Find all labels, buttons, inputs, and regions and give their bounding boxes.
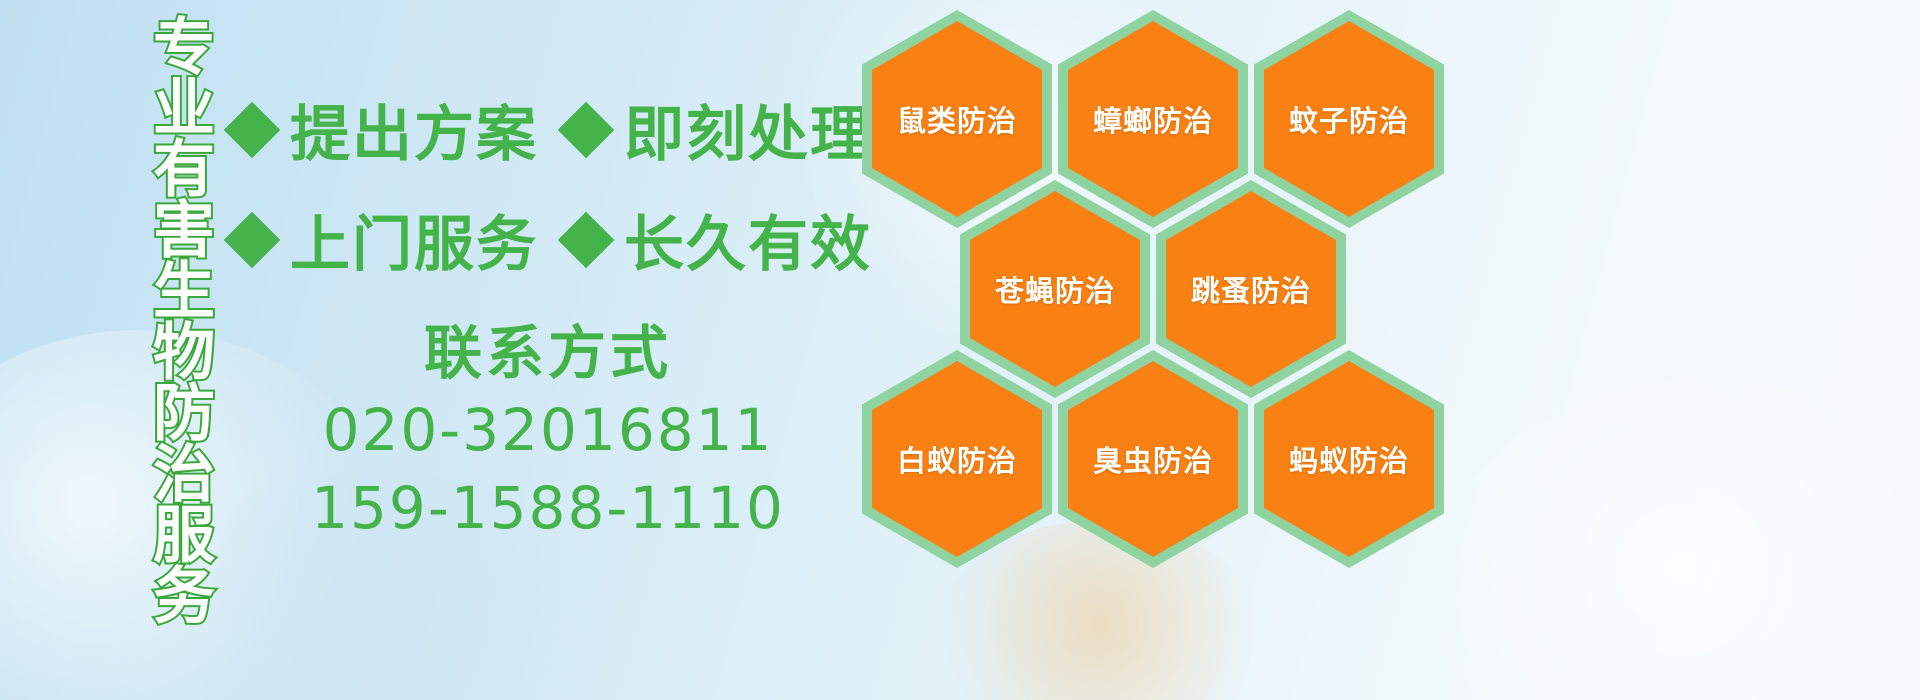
hex-label-termite: 白蚁防治	[897, 438, 1017, 480]
hex-label-fly: 苍蝇防治	[995, 268, 1115, 310]
diamond-icon	[558, 101, 615, 158]
hex-inner: 蚊子防治	[1264, 21, 1434, 217]
contact-title: 联系方式	[268, 318, 828, 391]
diamond-icon	[224, 211, 281, 268]
hex-cell-rodent[interactable]: 鼠类防治	[862, 10, 1052, 228]
hex-cell-cockroach[interactable]: 蟑螂防治	[1058, 10, 1248, 228]
hex-label-rodent: 鼠类防治	[897, 98, 1017, 140]
hex-cell-bedbug[interactable]: 臭虫防治	[1058, 350, 1248, 568]
contact-block: 联系方式 020-32016811 159-1588-1110	[268, 318, 828, 547]
phone-landline[interactable]: 020-32016811	[268, 391, 828, 469]
hex-label-ant: 蚂蚁防治	[1289, 438, 1409, 480]
hex-cell-ant[interactable]: 蚂蚁防治	[1254, 350, 1444, 568]
hex-label-flea: 跳蚤防治	[1191, 268, 1311, 310]
hex-inner: 臭虫防治	[1068, 361, 1238, 557]
vertical-headline: 专业有害生物防治服务	[112, 14, 208, 554]
hex-inner: 跳蚤防治	[1166, 191, 1336, 387]
hex-cell-flea[interactable]: 跳蚤防治	[1156, 180, 1346, 398]
feature-label-propose-plan: 提出方案	[290, 86, 538, 173]
feature-label-immediate-handling: 即刻处理	[624, 86, 872, 173]
hex-inner: 白蚁防治	[872, 361, 1042, 557]
feature-row-2: 上门服务 长久有效	[232, 196, 872, 283]
feature-label-door-to-door-service: 上门服务	[290, 196, 538, 283]
hex-label-cockroach: 蟑螂防治	[1093, 98, 1213, 140]
hex-cell-mosquito[interactable]: 蚊子防治	[1254, 10, 1444, 228]
hex-inner: 鼠类防治	[872, 21, 1042, 217]
hex-label-mosquito: 蚊子防治	[1289, 98, 1409, 140]
phone-mobile[interactable]: 159-1588-1110	[268, 469, 828, 547]
hex-label-bedbug: 臭虫防治	[1093, 438, 1213, 480]
pest-control-banner: 专业有害生物防治服务 提出方案 即刻处理 上门服务 长久有效 联系方式 020-…	[0, 0, 1920, 700]
background-haze-right	[1430, 380, 1920, 700]
hex-inner: 蟑螂防治	[1068, 21, 1238, 217]
services-honeycomb: 鼠类防治 蟑螂防治 蚊子防治 苍蝇防治 跳蚤防治 白蚁防治	[862, 0, 1462, 560]
diamond-icon	[224, 101, 281, 158]
hex-cell-termite[interactable]: 白蚁防治	[862, 350, 1052, 568]
hex-inner: 蚂蚁防治	[1264, 361, 1434, 557]
hex-cell-fly[interactable]: 苍蝇防治	[960, 180, 1150, 398]
hex-inner: 苍蝇防治	[970, 191, 1140, 387]
feature-label-long-lasting-effect: 长久有效	[624, 196, 872, 283]
feature-row-1: 提出方案 即刻处理	[232, 86, 872, 173]
diamond-icon	[558, 211, 615, 268]
